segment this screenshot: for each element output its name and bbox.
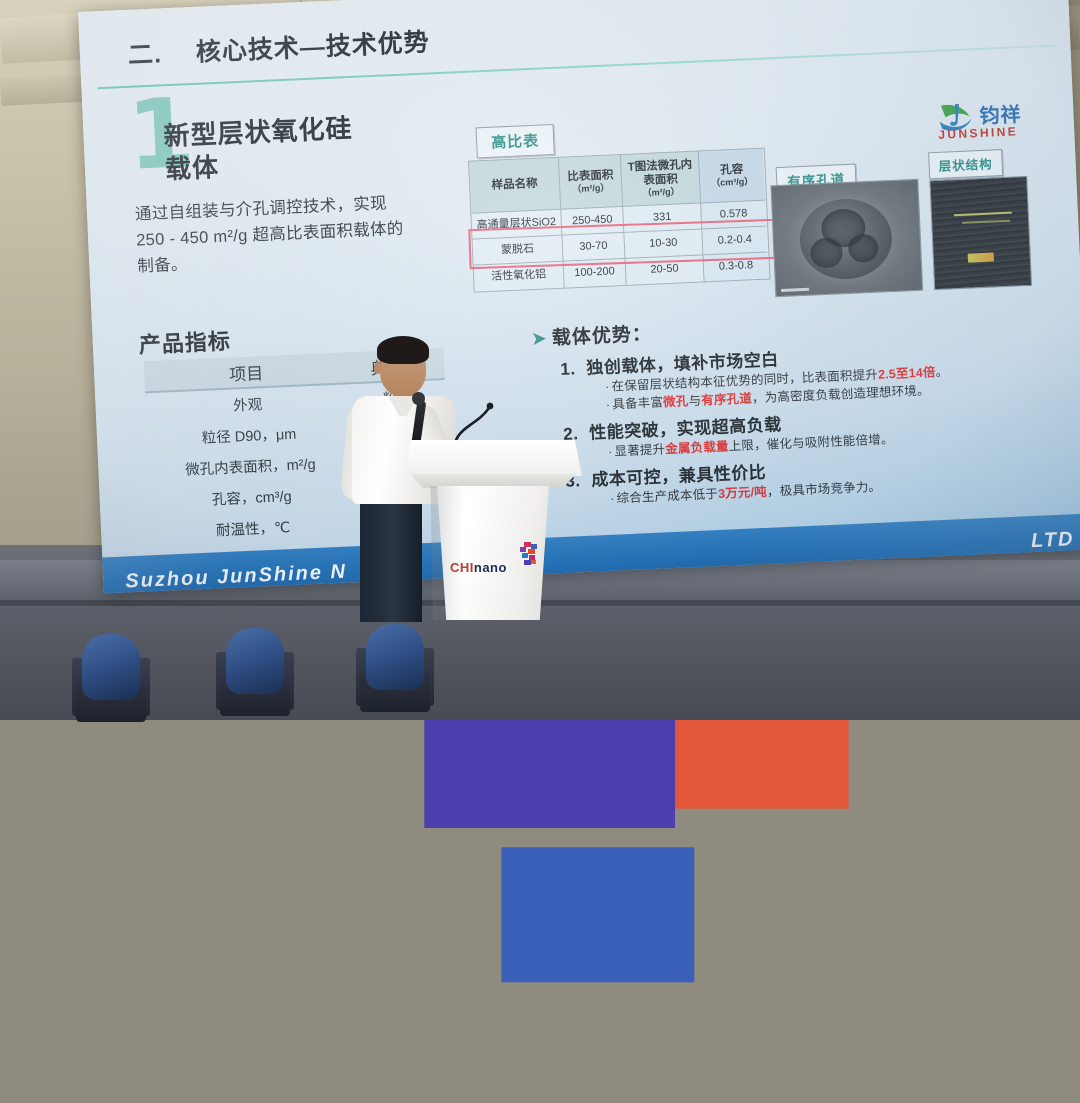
podium-lip [410, 474, 576, 488]
microphone-head-icon [412, 392, 425, 405]
cell-surface-area: 30-70 [562, 233, 625, 262]
chinano-orb-icon [512, 540, 542, 570]
cell-pore-volume: 0.3-0.8 [703, 253, 768, 282]
slide-header: 二.核心技术—技术优势 [127, 22, 430, 71]
cell-micropore-area: 20-50 [626, 255, 705, 284]
cell-surface-area: 100-200 [564, 259, 627, 288]
junshine-logo: 钧祥 JUNSHINE [935, 95, 1049, 144]
podium-top [404, 440, 582, 476]
chinano-podium-logo: CHInano [450, 544, 546, 580]
speaker-ear [374, 362, 382, 374]
slide-section-number: 二. [127, 40, 162, 69]
light-head [366, 624, 424, 690]
product-item: 孔容，cm³/g [149, 482, 354, 512]
bullet-icon: · [605, 380, 610, 394]
stage-light [356, 618, 434, 710]
bullet-icon: · [608, 445, 613, 459]
tem-scale-bar [781, 288, 809, 292]
col-surface-area: 比表面积 （m²/g） [559, 155, 623, 210]
product-item: 外观 [145, 389, 350, 419]
col-sample-name: 样品名称 [469, 158, 561, 214]
cell-micropore-area: 331 [623, 203, 702, 232]
sample-comparison-table: 样品名称 比表面积 （m²/g） T图法微孔内表面积 （m²/g） 孔容 （cm… [468, 148, 771, 293]
cell-pore-volume: 0.578 [701, 201, 766, 230]
product-section-heading: 产品指标 [138, 324, 231, 360]
cell-pore-volume: 0.2-0.4 [702, 227, 767, 256]
tem-image-layered [929, 176, 1032, 290]
cell-sample-name: 高通量层状SiO2 [471, 210, 562, 240]
light-head [226, 628, 284, 694]
layered-structure-caption: 层状结构 [928, 149, 1003, 179]
col-pore-volume: 孔容 （cm³/g） [699, 149, 765, 204]
chinano-wordmark: CHInano [450, 560, 507, 575]
product-item: 粒径 D90，μm [147, 420, 352, 450]
high-surface-area-chip: 高比表 [476, 124, 555, 158]
advantage-number: 1. [560, 359, 587, 380]
page-title: 核心技术—技术优势 [195, 28, 430, 66]
banner-company-right: LTD [1031, 528, 1075, 553]
stage-light [72, 628, 150, 720]
lamella-line [954, 212, 1012, 217]
cell-micropore-area: 10-30 [624, 229, 703, 258]
col-micropore-area: T图法微孔内表面积 （m²/g） [621, 152, 701, 207]
speaker-hair [377, 336, 429, 364]
lead-title: 新型层状氧化硅载体 [163, 111, 376, 186]
bullet-icon: · [610, 492, 615, 506]
lamella-line [962, 220, 1010, 224]
podium: CHInano [404, 440, 582, 620]
lead-paragraph: 通过自组装与介孔调控技术，实现250 - 450 m²/g 超高比表面积载体的制… [134, 189, 412, 279]
stage-light [216, 622, 294, 714]
product-item: 耐温性，℃ [151, 513, 356, 543]
tem-image-ordered-pore [770, 179, 923, 297]
cell-surface-area: 250-450 [561, 207, 624, 236]
advantages-list: 1.独创载体，填补市场空白 ·在保留层状结构本征优势的同时，比表面积提升2.5至… [560, 334, 1037, 514]
product-item: 微孔内表面积，m²/g [148, 451, 353, 481]
junshine-en-name: JUNSHINE [938, 124, 1018, 142]
cell-sample-name: 蒙脱石 [473, 236, 564, 266]
tem-marker [968, 253, 994, 263]
chevron-right-icon: ➤ [531, 328, 549, 350]
cell-sample-name: 活性氧化铝 [474, 262, 565, 292]
light-head [82, 634, 140, 700]
bullet-icon: · [606, 398, 611, 412]
advantages-heading: ➤载体优势： [530, 319, 652, 351]
